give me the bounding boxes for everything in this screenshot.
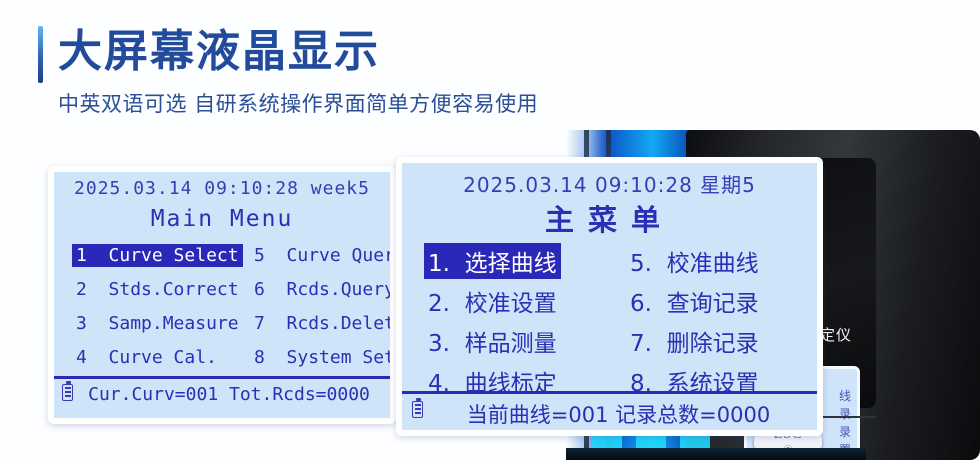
status-bar-english: 2025.03.14 09:10:28 week5 [54, 178, 390, 199]
menu-english: 1 Curve Select 5 Curve Query 2 Stds.Corr… [54, 244, 390, 380]
menu-item-label: 样品测量 [465, 331, 557, 357]
device-bottom-edge [566, 448, 866, 460]
menu-row: 1 Curve Select 5 Curve Query [54, 244, 390, 278]
menu-item-num: 3 [76, 313, 98, 334]
menu-item-num: 7. [630, 331, 659, 357]
accent-bar [38, 26, 43, 83]
menu-item-calibration-curve[interactable]: 5. 校准曲线 [626, 243, 763, 279]
menu-row: 4 Curve Cal. 8 System Set [54, 346, 390, 380]
footer-divider-english [54, 376, 390, 379]
menu-item-curve-query[interactable]: 5 Curve Query [250, 244, 390, 267]
menu-item-curve-select[interactable]: 1 Curve Select [72, 244, 243, 267]
menu-row: 2 Stds.Correct 6 Rcds.Query [54, 278, 390, 312]
menu-item-label: Curve Select [109, 245, 239, 266]
menu-item-num: 2. [428, 291, 457, 317]
menu-item-num: 5. [630, 251, 659, 277]
menu-item-label: Stds.Correct [109, 279, 239, 300]
menu-item-num: 7 [254, 313, 276, 334]
menu-row: 4. 曲线标定 8. 系统设置 [402, 363, 817, 403]
menu-item-num: 1 [76, 245, 98, 266]
menu-item-label: 校准设置 [465, 291, 557, 317]
page-root: 大屏幕液晶显示 中英双语可选 自研系统操作界面简单方便容易使用 测定仪 线录录置… [0, 0, 980, 460]
header: 大屏幕液晶显示 中英双语可选 自研系统操作界面简单方便容易使用 [0, 0, 980, 130]
menu-item-label: 删除记录 [667, 331, 759, 357]
menu-item-delete-records[interactable]: 7. 删除记录 [626, 323, 763, 359]
menu-item-num: 2 [76, 279, 98, 300]
screen-title-english: Main Menu [54, 206, 390, 232]
menu-row: 3 Samp.Measure 7 Rcds.Delete [54, 312, 390, 346]
page-title: 大屏幕液晶显示 [58, 22, 380, 82]
screen-title-chinese: 主菜单 [402, 197, 817, 239]
menu-item-num: 1. [428, 251, 457, 277]
status-footer-chinese: 当前曲线=001 记录总数=0000 [402, 399, 817, 429]
menu-item-select-curve[interactable]: 1. 选择曲线 [424, 243, 561, 279]
menu-item-samp-measure[interactable]: 3 Samp.Measure [72, 312, 243, 335]
lcd-chinese-inner: 2025.03.14 09:10:28 星期5 主菜单 1. 选择曲线 5. 校… [402, 163, 817, 430]
menu-item-num: 4 [76, 347, 98, 368]
menu-item-label: 查询记录 [667, 291, 759, 317]
menu-item-label: Curve Query [287, 245, 390, 266]
lcd-english-inner: 2025.03.14 09:10:28 week5 Main Menu 1 Cu… [54, 172, 390, 418]
lcd-screen-chinese: 2025.03.14 09:10:28 星期5 主菜单 1. 选择曲线 5. 校… [396, 157, 823, 436]
menu-chinese: 1. 选择曲线 5. 校准曲线 2. 校准设置 6. 查 [402, 243, 817, 403]
menu-item-stds-correct[interactable]: 2 Stds.Correct [72, 278, 243, 301]
menu-item-sample-measure[interactable]: 3. 样品测量 [424, 323, 561, 359]
menu-item-system-set[interactable]: 8 System Set [250, 346, 390, 369]
menu-item-query-records[interactable]: 6. 查询记录 [626, 283, 763, 319]
menu-item-label: System Set [287, 347, 390, 368]
menu-item-label: 选择曲线 [465, 251, 557, 277]
page-subtitle: 中英双语可选 自研系统操作界面简单方便容易使用 [58, 88, 538, 118]
menu-item-num: 6. [630, 291, 659, 317]
menu-item-rcds-query[interactable]: 6 Rcds.Query [250, 278, 390, 301]
menu-item-label: Curve Cal. [109, 347, 217, 368]
menu-item-rcds-delete[interactable]: 7 Rcds.Delete [250, 312, 390, 335]
menu-row: 1. 选择曲线 5. 校准曲线 [402, 243, 817, 283]
menu-item-num: 6 [254, 279, 276, 300]
menu-row: 2. 校准设置 6. 查询记录 [402, 283, 817, 323]
menu-item-num: 8 [254, 347, 276, 368]
status-bar-chinese: 2025.03.14 09:10:28 星期5 [402, 169, 817, 198]
menu-item-label: Rcds.Query [287, 279, 390, 300]
menu-item-curve-cal[interactable]: 4 Curve Cal. [72, 346, 221, 369]
menu-item-label: Rcds.Delete [287, 313, 390, 334]
menu-row: 3. 样品测量 7. 删除记录 [402, 323, 817, 363]
menu-item-num: 3. [428, 331, 457, 357]
status-footer-english: Cur.Curv=001 Tot.Rcds=0000 [54, 384, 390, 405]
menu-item-label: 校准曲线 [667, 251, 759, 277]
footer-divider-chinese [402, 391, 817, 394]
lcd-screen-english: 2025.03.14 09:10:28 week5 Main Menu 1 Cu… [48, 166, 396, 424]
menu-item-num: 5 [254, 245, 276, 266]
menu-item-calibration-settings[interactable]: 2. 校准设置 [424, 283, 561, 319]
menu-item-label: Samp.Measure [109, 313, 239, 334]
